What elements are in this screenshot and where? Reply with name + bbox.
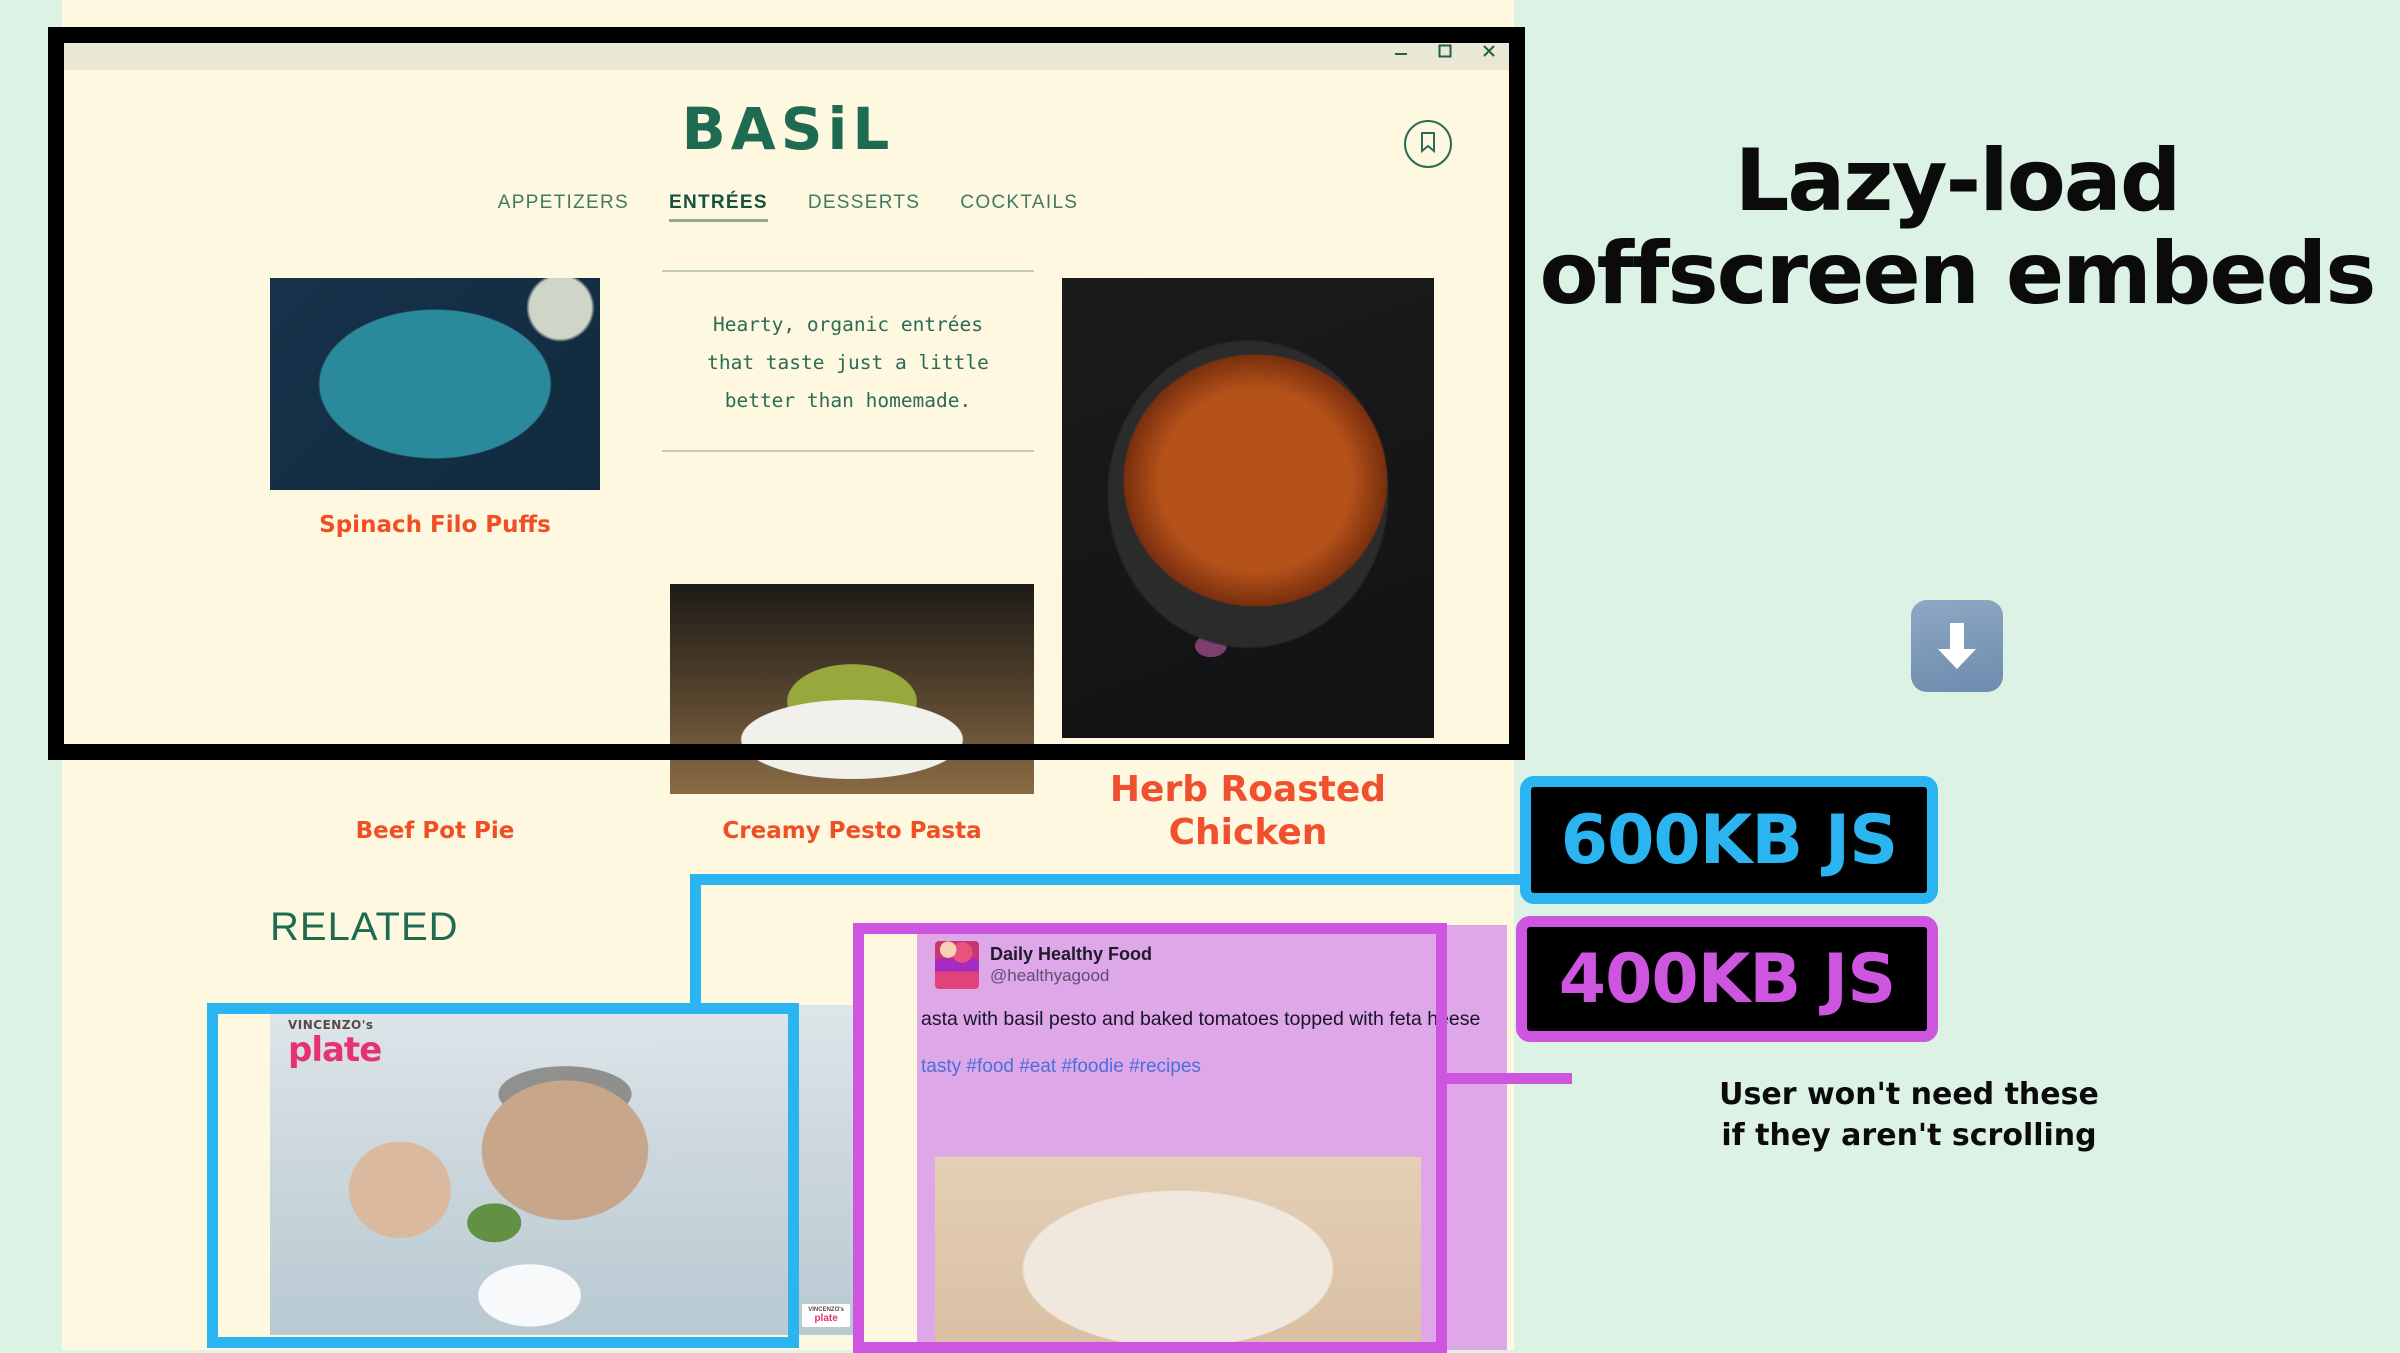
close-icon[interactable] (1478, 40, 1500, 62)
menu-item-caption-featured: Herb Roasted Chicken (1042, 768, 1454, 854)
annotation-footnote: User won't need these if they aren't scr… (1514, 1075, 2304, 1156)
menu-item-image-creamy-pesto-pasta[interactable] (670, 584, 1034, 794)
highlight-box-video-embed (207, 1003, 799, 1348)
connector-line-cyan-horizontal (690, 874, 1570, 885)
nav-item-cocktails[interactable]: COCKTAILS (960, 192, 1078, 222)
related-section-title: RELATED (270, 905, 459, 950)
maximize-icon[interactable] (1434, 40, 1456, 62)
menu-quote-block: Hearty, organic entrées that taste just … (662, 270, 1034, 452)
connector-line-cyan-vertical (690, 874, 701, 1014)
food-photo (670, 584, 1034, 794)
food-photo (1062, 278, 1434, 738)
annotation-panel: Lazy-load offscreen embeds 600KB JS 400K… (1514, 0, 2400, 1350)
down-arrow-icon (1911, 600, 2003, 692)
highlight-box-tweet-embed (853, 923, 1447, 1353)
menu-item-image-beef-pot-pie[interactable] (270, 584, 600, 794)
menu-item-caption: Creamy Pesto Pasta (670, 818, 1034, 844)
site-logo: BASiL (62, 95, 1514, 163)
menu-item-caption: Spinach Filo Puffs (270, 512, 600, 538)
nav-item-desserts[interactable]: DESSERTS (808, 192, 920, 222)
nav-item-entrees[interactable]: ENTRÉES (669, 192, 768, 222)
badge-600kb-js: 600KB JS (1520, 776, 1938, 904)
site-nav: APPETIZERS ENTRÉES DESSERTS COCKTAILS (62, 192, 1514, 222)
annotation-headline: Lazy-load offscreen embeds (1514, 135, 2400, 321)
menu-quote-text: Hearty, organic entrées that taste just … (662, 272, 1034, 450)
corner-watermark-bottom: plate (814, 1313, 837, 1324)
window-titlebar (62, 28, 1514, 70)
bookmark-icon (1418, 131, 1438, 158)
menu-item-image-herb-roasted-chicken[interactable] (1062, 278, 1434, 738)
nav-item-appetizers[interactable]: APPETIZERS (498, 192, 629, 222)
window-controls (1390, 40, 1500, 62)
minimize-icon[interactable] (1390, 40, 1412, 62)
food-photo (270, 278, 600, 490)
badge-400kb-js: 400KB JS (1516, 916, 1938, 1042)
bookmark-button[interactable] (1404, 120, 1452, 168)
divider-bottom (662, 450, 1034, 452)
menu-item-image-spinach-filo-puffs[interactable] (270, 278, 600, 490)
menu-item-caption: Beef Pot Pie (270, 818, 600, 844)
corner-watermark: VINCENZO's plate (802, 1304, 850, 1327)
food-photo (270, 584, 600, 794)
